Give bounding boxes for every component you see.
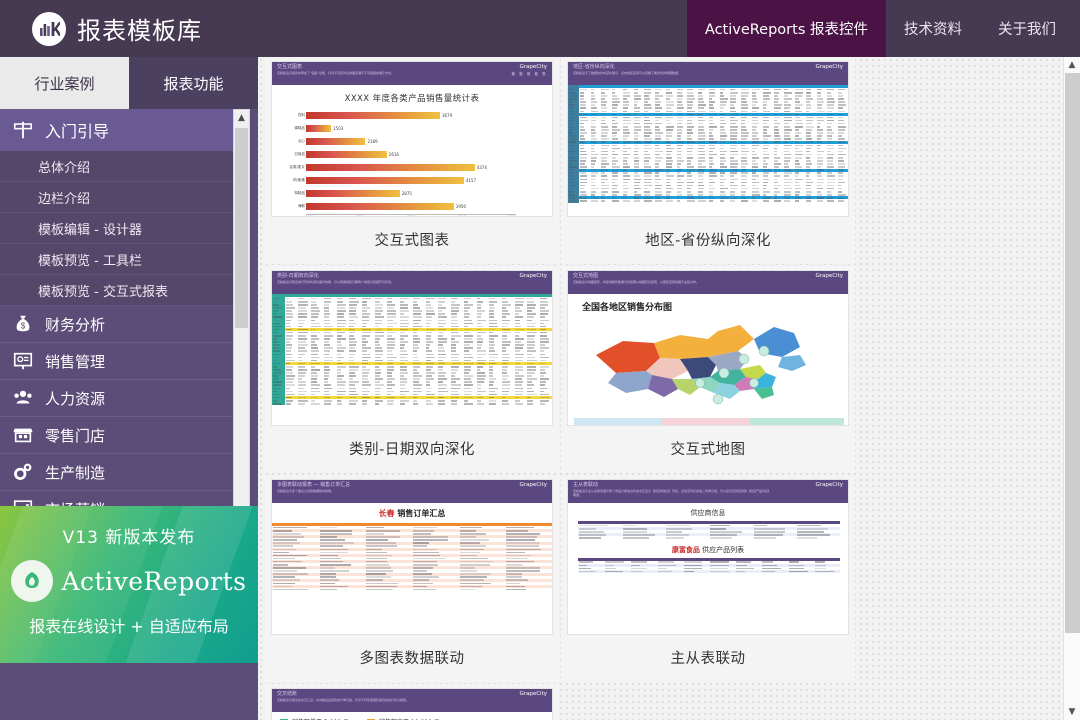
report-description: 该模板演示主从表联动展示整个商品分类信息状态交互显示【供应商信息】列表；点击该列… (573, 489, 773, 497)
x-tick: 5000 (508, 215, 516, 217)
report-title: 交叉结账 (277, 691, 409, 697)
bar (306, 203, 454, 210)
template-card-cross-tab[interactable]: 交叉结账 该模板演示报表的交叉汇总，并对超出设定的合计单元格，针对不同年度销售额… (265, 684, 559, 720)
card-thumbnail: 多图表联动报表 — 销售订单汇总 该模板演示多个图表之间的数据联动效果。 Gra… (271, 479, 553, 635)
card-title: 交互式图表 (271, 217, 553, 264)
bar-row: 点心2189 (306, 136, 552, 147)
table-cell (297, 402, 310, 405)
table-cell (761, 570, 787, 573)
template-card-region-province-drilldown[interactable]: 地区-省份纵向深化 该模板演示了数据的纵向深化展示，点击地区名称可以查看下属省份… (561, 57, 855, 264)
bar-row: 日用品2616 (306, 149, 552, 160)
card-thumbnail: 类别-日期双向深化 该模板演示矩表的行列双向深化展示效果，可以按类别和日期两个维… (271, 270, 553, 426)
table-cell (285, 402, 298, 405)
bar-row: 海鲜3956 (306, 201, 552, 212)
table-cell (709, 536, 753, 539)
presentation-chart-icon (12, 350, 34, 372)
product-table-label: 供应产品列表 (702, 546, 744, 554)
gears-icon (12, 461, 34, 483)
table-cell (654, 199, 665, 202)
table-cell (310, 402, 323, 405)
sidebar-item-retail-label: 零售门店 (45, 425, 105, 446)
bar-row: 饮料3679 (306, 110, 552, 121)
table-cell (773, 199, 784, 202)
x-tick: 3000 (407, 215, 415, 217)
table-cell (643, 199, 654, 202)
card-thumbnail: 交互式图表 该模板演示报表中添加了“钻取”功能，针对不同点列表的图表展示不同层级… (271, 61, 553, 217)
template-card-interactive-map[interactable]: 交互式地图 该模板演示地图控件，将区域销售数据分析结果以地图形式呈现，以更加直观… (561, 266, 855, 473)
brand-name: GrapeCity (519, 64, 547, 70)
grapecity-brand: GrapeCity (519, 273, 547, 294)
bar-chart-k-logo-icon (32, 12, 66, 46)
order-table-area: 长春 销售订单汇总 (272, 508, 552, 635)
card-title: 交互式地图 (567, 426, 849, 473)
map-area: 全国各地区销售分布图 (568, 300, 848, 426)
table-cell (399, 402, 412, 405)
table-row (272, 402, 552, 405)
bar-series: 饮料3679调味品1503点心2189日用品2616谷类/麦片4374肉/家禽4… (306, 110, 552, 212)
sidebar-sub-item-preview-toolbar[interactable]: 模板预览 - 工具栏 (0, 244, 241, 275)
table-cell (762, 199, 773, 202)
table-cell (676, 199, 687, 202)
table-row (272, 588, 552, 591)
table-cell (816, 199, 827, 202)
template-card-master-detail[interactable]: 主从表联动 该模板演示主从表联动展示整个商品分类信息状态交互显示【供应商信息】列… (561, 475, 855, 682)
report-description: 该模板演示多个图表之间的数据联动效果。 (277, 489, 350, 493)
table-cell (719, 199, 730, 202)
bar-category-label: 海鲜 (273, 204, 305, 209)
bar-row: 特制品2875 (306, 188, 552, 199)
card-thumbnail: 地区-省份纵向深化 该模板演示了数据的纵向深化展示，点击地区名称可以查看下属省份… (567, 61, 849, 217)
sidebar-item-finance-label: 财务分析 (45, 314, 105, 335)
main-scroll-thumb[interactable] (1065, 73, 1080, 633)
table-cell (463, 402, 476, 405)
template-card-grid: 交互式图表 该模板演示报表中添加了“钻取”功能，针对不同点列表的图表展示不同层级… (265, 57, 1055, 720)
template-card-category-date-drilldown[interactable]: 类别-日期双向深化 该模板演示矩表的行列双向深化展示效果，可以按类别和日期两个维… (265, 266, 559, 473)
tab-report-features-label: 报表功能 (163, 73, 223, 94)
tab-report-features[interactable]: 报表功能 (129, 57, 258, 109)
signpost-icon (12, 119, 34, 141)
table-cell (630, 570, 656, 573)
brand[interactable]: 报表模板库 (32, 11, 202, 46)
table-cell (740, 199, 751, 202)
sidebar-item-finance[interactable]: $ 财务分析 (0, 306, 241, 343)
people-icon (12, 387, 34, 409)
main-content: 交互式图表 该模板演示报表中添加了“钻取”功能，针对不同点列表的图表展示不同层级… (258, 57, 1080, 720)
x-tick: 2000 (356, 215, 364, 217)
bar-value-label: 2189 (367, 139, 377, 144)
sidebar-sub-item-preview-interactive[interactable]: 模板预览 - 交互式报表 (0, 275, 241, 306)
sidebar-group-label: 入门引导 (45, 118, 109, 142)
product-table-supplier: 康富食品 (672, 546, 700, 554)
map-legend-bar (574, 418, 844, 426)
bar-row: 调味品1503 (306, 123, 552, 134)
bar-value-label: 3679 (442, 113, 452, 118)
card-title: 地区-省份纵向深化 (567, 217, 849, 264)
table-cell (753, 536, 797, 539)
table-area (568, 85, 848, 217)
sidebar-item-sales-label: 销售管理 (45, 351, 105, 372)
promo-version-text: V13 新版本发布 (0, 523, 258, 548)
table-cell (683, 570, 709, 573)
table-cell (788, 570, 814, 573)
table-cell (365, 588, 412, 591)
table-cell (386, 402, 399, 405)
sidebar-tabs: 行业案例 报表功能 (0, 57, 258, 109)
app-root: 报表模板库 ActiveReports 报表控件 技术资料 关于我们 行业案例 … (0, 0, 1080, 720)
brand-subtitle: 葡 萄 城 报 表 (512, 71, 547, 78)
bar-category-label: 饮料 (273, 113, 305, 118)
sidebar-item-manufacturing[interactable]: 生产制造 (0, 454, 241, 491)
table-cell (622, 199, 633, 202)
table-cell (526, 402, 539, 405)
table-cell (709, 570, 735, 573)
brand-title: 报表模板库 (77, 11, 202, 46)
report-header: 类别-日期双向深化 该模板演示矩表的行列双向深化展示效果，可以按类别和日期两个维… (272, 271, 552, 294)
table-cell (600, 199, 611, 202)
bar-value-label: 1503 (333, 126, 343, 131)
grapecity-brand: GrapeCity (815, 482, 843, 503)
main-vertical-scrollbar[interactable]: ▲ ▼ (1063, 57, 1080, 720)
bar-value-label: 2616 (389, 152, 399, 157)
order-table (272, 523, 552, 591)
bar-category-label: 点心 (273, 139, 305, 144)
report-title: 地区-省份纵向深化 (573, 64, 681, 70)
table-cell (412, 402, 425, 405)
sidebar-item-sales[interactable]: 销售管理 (0, 343, 241, 380)
bar (306, 164, 475, 171)
table-row (578, 570, 840, 573)
bar-row: 肉/家禽4157 (306, 175, 552, 186)
sidebar-item-manufacturing-label: 生产制造 (45, 462, 105, 483)
matrix-area (272, 294, 552, 426)
promo-tagline: 报表在线设计 + 自适应布局 (0, 613, 258, 637)
table-cell (578, 536, 622, 539)
table-cell (374, 402, 387, 405)
template-card-multi-chart-linkage[interactable]: 多图表联动报表 — 销售订单汇总 该模板演示多个图表之间的数据联动效果。 Gra… (265, 475, 559, 682)
sidebar-menu: 入门引导 总体介绍 边栏介绍 模板编辑 - 设计器 模板预览 - 工具栏 模板预… (0, 109, 241, 528)
table-cell (697, 199, 708, 202)
nav-item-activereports[interactable]: ActiveReports 报表控件 (687, 0, 886, 57)
sidebar-item-hr-label: 人力资源 (45, 388, 105, 409)
report-title: 多图表联动报表 — 销售订单汇总 (277, 482, 350, 488)
report-header: 主从表联动 该模板演示主从表联动展示整个商品分类信息状态交互显示【供应商信息】列… (568, 480, 848, 503)
table-cell (568, 199, 579, 202)
sidebar-sub-list: 总体介绍 边栏介绍 模板编辑 - 设计器 模板预览 - 工具栏 模板预览 - 交… (0, 151, 241, 306)
template-card-interactive-chart[interactable]: 交互式图表 该模板演示报表中添加了“钻取”功能，针对不同点列表的图表展示不同层级… (265, 57, 559, 264)
card-thumbnail: 交互式地图 该模板演示地图控件，将区域销售数据分析结果以地图形式呈现，以更加直观… (567, 270, 849, 426)
table-cell (837, 199, 848, 202)
card-title: 主从表联动 (567, 635, 849, 682)
table-cell (729, 199, 740, 202)
product-table (578, 558, 840, 573)
main-nav: ActiveReports 报表控件 技术资料 关于我们 (687, 0, 1080, 57)
matrix-table (272, 294, 552, 405)
grapecity-brand: GrapeCity 葡 萄 城 报 表 (512, 64, 547, 85)
promo-product-name: ActiveReports (61, 567, 246, 596)
table-cell (336, 402, 349, 405)
report-header: 交互式地图 该模板演示地图控件，将区域销售数据分析结果以地图形式呈现，以更加直观… (568, 271, 848, 294)
table-cell (794, 199, 805, 202)
table-cell (814, 570, 840, 573)
bar (306, 125, 331, 132)
bar (306, 151, 387, 158)
report-title: 交互式地图 (573, 273, 699, 279)
table-cell (272, 402, 285, 405)
report-title: 类别-日期双向深化 (277, 273, 394, 279)
nav-item-about-us[interactable]: 关于我们 (980, 0, 1080, 57)
order-table-title: 销售订单汇总 (397, 509, 445, 518)
table-cell (805, 199, 816, 202)
order-table-city: 长春 (379, 509, 395, 518)
table-cell (425, 402, 438, 405)
bar (306, 138, 365, 145)
tab-industry-cases[interactable]: 行业案例 (0, 57, 129, 109)
table-cell (437, 402, 450, 405)
table-cell (622, 536, 666, 539)
nav-item-tech-docs[interactable]: 技术资料 (886, 0, 980, 57)
sidebar-sub-item-overview[interactable]: 总体介绍 (0, 151, 241, 182)
scroll-up-arrow-icon[interactable]: ▲ (234, 110, 249, 126)
report-description: 该模板演示地图控件，将区域销售数据分析结果以地图形式呈现，以更加直观地展示业绩分… (573, 280, 699, 284)
x-tick: 4000 (457, 215, 465, 217)
table-row (568, 199, 848, 202)
table-cell (501, 402, 514, 405)
table-cell (826, 199, 837, 202)
x-tick: 1000 (306, 215, 314, 217)
report-description: 该模板演示报表的交叉汇总，并对超出设定的合计单元格，针对不同年度销售额自动进行标… (277, 698, 409, 702)
product-table-title: 康富食品 供应产品列表 (568, 545, 848, 555)
table-row (578, 536, 840, 539)
table-cell (783, 199, 794, 202)
promo-product-row: ActiveReports (0, 560, 258, 602)
bar-value-label: 2875 (402, 191, 412, 196)
table-cell (579, 199, 590, 202)
sidebar-group-getting-started[interactable]: 入门引导 (0, 109, 241, 151)
table-cell (450, 402, 463, 405)
sidebar-sub-item-sidebar-intro[interactable]: 边栏介绍 (0, 182, 241, 213)
tab-industry-cases-label: 行业案例 (34, 73, 94, 94)
bar-value-label: 4157 (466, 178, 476, 183)
report-header: 交互式图表 该模板演示报表中添加了“钻取”功能，针对不同点列表的图表展示不同层级… (272, 62, 552, 85)
table-cell (604, 570, 630, 573)
bar-value-label: 4374 (477, 165, 487, 170)
supplier-table (578, 521, 840, 540)
grapecity-brand: GrapeCity (815, 64, 843, 85)
page-header: 报表模板库 ActiveReports 报表控件 技术资料 关于我们 (0, 0, 1080, 57)
table-cell (735, 570, 761, 573)
table-cell (323, 402, 336, 405)
card-title: 多图表数据联动 (271, 635, 553, 682)
svg-text:$: $ (21, 322, 26, 331)
card-title: 类别-日期双向深化 (271, 426, 553, 473)
scroll-up-arrow-icon[interactable]: ▲ (1064, 57, 1080, 73)
table-cell (665, 536, 709, 539)
report-title: 交互式图表 (277, 64, 394, 70)
supplier-table-title: 供应商信息 (568, 508, 848, 518)
table-cell (272, 588, 319, 591)
bar-category-label: 日用品 (273, 152, 305, 157)
table-cell (539, 402, 552, 405)
card-thumbnail: 交叉结账 该模板演示报表的交叉汇总，并对超出设定的合计单元格，针对不同年度销售额… (271, 688, 553, 720)
bar-category-label: 谷类/麦片 (273, 165, 305, 170)
card-thumbnail: 主从表联动 该模板演示主从表联动展示整个商品分类信息状态交互显示【供应商信息】列… (567, 479, 849, 635)
bar-value-label: 3956 (456, 204, 466, 209)
activereports-logo-icon (11, 560, 53, 602)
table-cell (488, 402, 501, 405)
sidebar-item-retail[interactable]: 零售门店 (0, 417, 241, 454)
sidebar-sub-item-template-designer[interactable]: 模板编辑 - 设计器 (0, 213, 241, 244)
table-cell (578, 570, 604, 573)
table-cell (459, 588, 506, 591)
x-axis-ticks: 10002000300040005000 (306, 214, 516, 217)
table-cell (751, 199, 762, 202)
table-cell (319, 588, 366, 591)
table-cell (665, 199, 676, 202)
report-title: 主从表联动 (573, 482, 773, 488)
bar-category-label: 肉/家禽 (273, 178, 305, 183)
report-description: 该模板演示矩表的行列双向深化展示效果，可以按类别和日期两个维度分别展开与折叠。 (277, 280, 394, 284)
table-cell (796, 536, 840, 539)
data-table (568, 85, 848, 203)
report-header: 交叉结账 该模板演示报表的交叉汇总，并对超出设定的合计单元格，针对不同年度销售额… (272, 689, 552, 712)
table-cell (514, 402, 527, 405)
report-header: 多图表联动报表 — 销售订单汇总 该模板演示多个图表之间的数据联动效果。 Gra… (272, 480, 552, 503)
bar-row: 谷类/麦片4374 (306, 162, 552, 173)
report-description: 该模板演示了数据的纵向深化展示，点击地区名称可以查看下属省份的明细数据。 (573, 71, 681, 75)
bar-category-label: 调味品 (273, 126, 305, 131)
table-cell (476, 402, 489, 405)
map-title: 全国各地区销售分布图 (582, 300, 848, 313)
table-cell (611, 199, 622, 202)
storefront-icon (12, 424, 34, 446)
table-cell (348, 402, 361, 405)
grapecity-brand: GrapeCity (519, 482, 547, 503)
report-description: 该模板演示报表中添加了“钻取”功能，针对不同点列表的图表展示不同层级的展示方式。 (277, 71, 394, 75)
chart-area: XXXX 年度各类产品销售量统计表 饮料3679调味品1503点心2189日用品… (272, 92, 552, 217)
promo-banner[interactable]: V13 新版本发布 ActiveReports 报表在线设计 + 自适应布局 (0, 506, 258, 663)
sidebar-vertical-scrollbar[interactable]: ▲ ▼ (233, 109, 250, 541)
money-bag-icon: $ (12, 313, 34, 335)
bar-category-label: 特制品 (273, 191, 305, 196)
table-cell (686, 199, 697, 202)
bar (306, 112, 440, 119)
grapecity-brand: GrapeCity (519, 691, 547, 712)
table-cell (412, 588, 459, 591)
table-cell (657, 570, 683, 573)
scroll-down-arrow-icon[interactable]: ▼ (1064, 704, 1080, 720)
grapecity-brand: GrapeCity (815, 273, 843, 294)
sidebar-menu-scroll: 入门引导 总体介绍 边栏介绍 模板编辑 - 设计器 模板预览 - 工具栏 模板预… (0, 109, 258, 541)
table-cell (505, 588, 552, 591)
master-detail-area: 供应商信息 康富食品 供应产品列表 (568, 508, 848, 635)
sidebar-item-hr[interactable]: 人力资源 (0, 380, 241, 417)
bar (306, 190, 400, 197)
table-cell (361, 402, 374, 405)
china-map-icon (568, 313, 849, 409)
table-cell (590, 199, 601, 202)
table-cell (708, 199, 719, 202)
sidebar-scroll-thumb[interactable] (235, 128, 248, 328)
report-header: 地区-省份纵向深化 该模板演示了数据的纵向深化展示，点击地区名称可以查看下属省份… (568, 62, 848, 85)
chart-title: XXXX 年度各类产品销售量统计表 (272, 92, 552, 104)
table-cell (633, 199, 644, 202)
bar (306, 177, 464, 184)
